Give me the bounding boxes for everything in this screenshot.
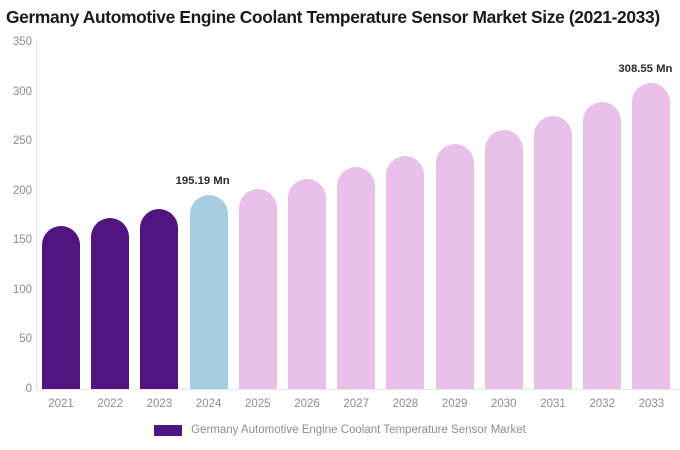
x-axis-tick-label-2033: 2033 — [632, 397, 670, 411]
bar-2023[interactable] — [140, 209, 178, 389]
bar-group-2032[interactable] — [583, 42, 621, 389]
y-axis-tick-label: 250 — [2, 136, 32, 146]
x-axis-tick-label-2026: 2026 — [288, 397, 326, 411]
plot-area — [36, 42, 680, 389]
legend-color-swatch — [154, 425, 182, 436]
bar-2025[interactable] — [239, 189, 277, 389]
y-axis: 050100150200250300350 — [0, 42, 32, 390]
y-axis-tick-label: 200 — [2, 186, 32, 196]
x-axis-tick-label-2021: 2021 — [42, 397, 80, 411]
legend-item[interactable]: Germany Automotive Engine Coolant Temper… — [154, 424, 526, 437]
x-axis-tick-label-2030: 2030 — [485, 397, 523, 411]
bar-group-2022[interactable] — [91, 42, 129, 389]
x-axis-line — [36, 389, 680, 390]
y-axis-tick-label: 350 — [2, 37, 32, 47]
chart-title: Germany Automotive Engine Coolant Temper… — [6, 6, 680, 28]
bar-group-2031[interactable] — [534, 42, 572, 389]
chart-container: Germany Automotive Engine Coolant Temper… — [0, 0, 680, 450]
bar-2029[interactable] — [436, 144, 474, 389]
bar-2028[interactable] — [386, 156, 424, 389]
y-axis-tick-label: 0 — [2, 384, 32, 394]
bar-group-2024[interactable] — [190, 42, 228, 389]
bar-2024[interactable] — [190, 195, 228, 389]
y-axis-tick-label: 150 — [2, 235, 32, 245]
x-axis-tick-label-2024: 2024 — [190, 397, 228, 411]
bar-group-2026[interactable] — [288, 42, 326, 389]
chart-legend: Germany Automotive Engine Coolant Temper… — [0, 424, 680, 437]
bar-group-2028[interactable] — [386, 42, 424, 389]
bar-value-label-2033: 308.55 Mn — [618, 63, 672, 75]
x-axis-tick-label-2032: 2032 — [583, 397, 621, 411]
bar-2031[interactable] — [534, 116, 572, 389]
bar-2027[interactable] — [337, 167, 375, 389]
x-axis-tick-label-2022: 2022 — [91, 397, 129, 411]
bar-value-label-2024: 195.19 Mn — [176, 175, 230, 187]
bar-group-2033[interactable] — [632, 42, 670, 389]
x-axis-tick-label-2025: 2025 — [239, 397, 277, 411]
bar-2022[interactable] — [91, 218, 129, 389]
bar-2026[interactable] — [288, 179, 326, 389]
bar-2033[interactable] — [632, 83, 670, 389]
bar-group-2021[interactable] — [42, 42, 80, 389]
bar-2021[interactable] — [42, 226, 80, 389]
bar-2032[interactable] — [583, 102, 621, 390]
bar-2030[interactable] — [485, 130, 523, 389]
y-axis-tick-label: 300 — [2, 87, 32, 97]
bar-group-2030[interactable] — [485, 42, 523, 389]
y-axis-tick-label: 50 — [2, 334, 32, 344]
bar-group-2029[interactable] — [436, 42, 474, 389]
x-axis-tick-label-2023: 2023 — [140, 397, 178, 411]
y-axis-tick-label: 100 — [2, 285, 32, 295]
x-axis-tick-label-2031: 2031 — [534, 397, 572, 411]
bar-group-2027[interactable] — [337, 42, 375, 389]
bar-group-2023[interactable] — [140, 42, 178, 389]
legend-item-label: Germany Automotive Engine Coolant Temper… — [191, 424, 526, 437]
x-axis-tick-label-2028: 2028 — [386, 397, 424, 411]
x-axis-tick-label-2027: 2027 — [337, 397, 375, 411]
x-axis-tick-label-2029: 2029 — [436, 397, 474, 411]
bar-group-2025[interactable] — [239, 42, 277, 389]
